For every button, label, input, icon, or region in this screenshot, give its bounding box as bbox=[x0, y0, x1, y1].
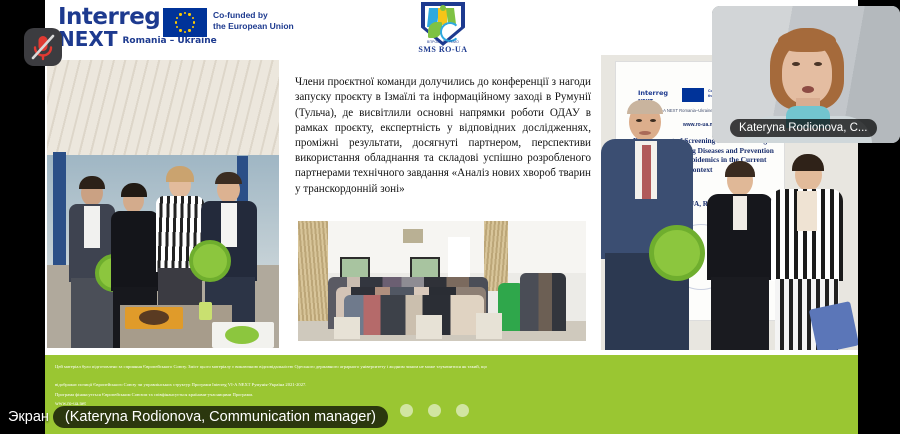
interreg-programme-label: Romania – Ukraine bbox=[122, 36, 216, 46]
photo-chair-3 bbox=[476, 313, 502, 339]
screen-share-prefix: Экран bbox=[8, 409, 53, 425]
photo-award-ceremony-left bbox=[47, 60, 279, 348]
eu-star-icon bbox=[179, 13, 181, 15]
photo-blue-banner bbox=[809, 301, 858, 350]
eu-star-icon bbox=[192, 17, 194, 19]
self-view-name-label: Kateryna Rodionova, C... bbox=[730, 119, 877, 137]
eu-star-icon bbox=[176, 17, 178, 19]
eu-star-icon bbox=[176, 26, 178, 28]
loading-dots-indicator bbox=[400, 404, 470, 420]
eu-star-icon bbox=[179, 29, 181, 31]
self-view-eye-left bbox=[792, 62, 800, 66]
eu-flag-icon bbox=[163, 8, 207, 37]
screen-share-label: Экран (Kateryna Rodionova, Communication… bbox=[8, 404, 388, 429]
eu-funding-line2: the European Union bbox=[213, 21, 294, 32]
eu-star-icon bbox=[175, 21, 177, 23]
self-view-video-tile[interactable]: Kateryna Rodionova, C... bbox=[712, 6, 900, 143]
footer-disclaimer-line2: відображає позиції Європейського Союзу ч… bbox=[55, 381, 847, 390]
loading-dot bbox=[428, 404, 441, 417]
sms-logo-tiny-caption: ВПРОВАДЖУЄМО bbox=[412, 40, 474, 44]
self-view-mouth bbox=[802, 86, 814, 93]
screen-share-participant: (Kateryna Rodionova, Communication manag… bbox=[53, 406, 388, 428]
slide-paragraph: Члени проєктної команди долучились до ко… bbox=[295, 75, 591, 197]
self-view-fringe bbox=[778, 30, 836, 52]
photo-audience-right-group bbox=[520, 273, 566, 331]
eu-star-icon bbox=[184, 12, 186, 14]
microphone-muted-badge[interactable] bbox=[24, 28, 62, 66]
loading-dot bbox=[400, 404, 413, 417]
eu-funding-line1: Co-funded by bbox=[213, 10, 294, 21]
sms-ro-ua-logo: ВПРОВАДЖУЄМО SMS RO-UA bbox=[412, 2, 474, 58]
eu-star-icon bbox=[184, 31, 186, 33]
footer-disclaimer-line1: Цей матеріал було підготовлено за сприян… bbox=[55, 363, 847, 372]
photo-woman-black-suit bbox=[705, 165, 775, 350]
microphone-muted-icon bbox=[24, 28, 62, 66]
photo-audience-front bbox=[344, 295, 484, 335]
eu-star-icon bbox=[188, 29, 190, 31]
eu-star-icon bbox=[188, 13, 190, 15]
photo-gift-plate bbox=[225, 326, 259, 344]
eu-star-icon bbox=[193, 21, 195, 23]
photo-presenter-man bbox=[601, 103, 693, 350]
photo-cake bbox=[139, 310, 169, 325]
photo-room-pillar bbox=[448, 237, 470, 281]
photo-drink-glass bbox=[199, 302, 212, 320]
interreg-next-label: NEXT bbox=[58, 27, 117, 51]
self-view-eye-right bbox=[814, 62, 822, 66]
photo-chandelier bbox=[403, 229, 423, 243]
eu-star-icon bbox=[192, 26, 194, 28]
logo-dot bbox=[440, 5, 446, 11]
photo-chair-1 bbox=[334, 317, 360, 339]
eu-funding-text: Co-funded by the European Union bbox=[213, 10, 294, 32]
sms-logo-caption: SMS RO-UA bbox=[412, 45, 474, 54]
loading-dot bbox=[456, 404, 469, 417]
swirl-icon bbox=[440, 22, 460, 42]
photo-chair-2 bbox=[416, 315, 442, 339]
footer-disclaimer-line3: Програма фінансується Європейським Союзо… bbox=[55, 391, 847, 400]
photo-conference-audience-middle bbox=[298, 221, 586, 341]
video-conference-window: Interreg NEXTRomania – Ukraine Co-funded… bbox=[0, 0, 900, 434]
